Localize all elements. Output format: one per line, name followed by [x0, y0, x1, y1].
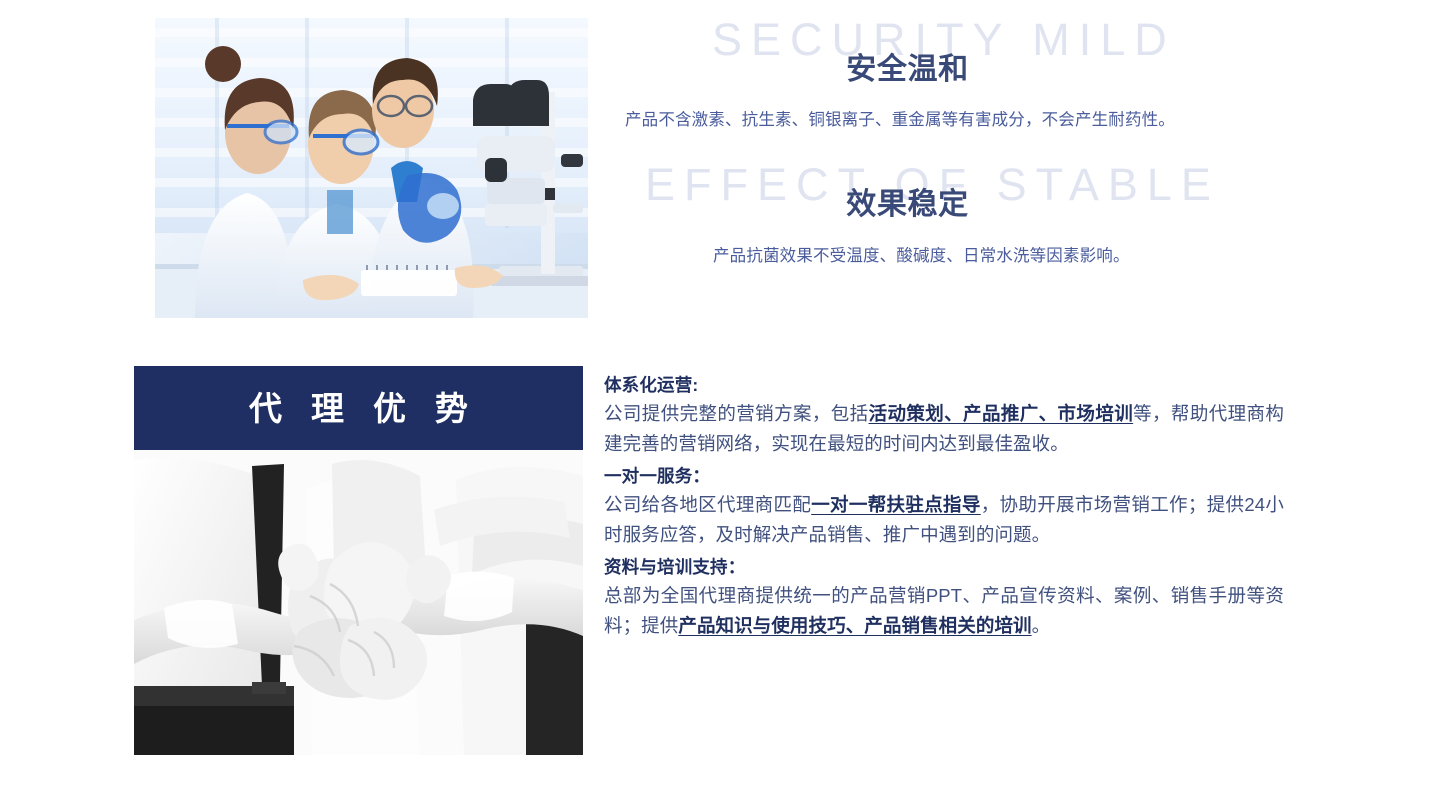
advantage-heading-materials-training: 资料与培训支持：: [604, 554, 1284, 581]
advantage-body-systematic-operation: 公司提供完整的营销方案，包括活动策划、产品推广、市场培训等，帮助代理商构建完善的…: [604, 399, 1284, 459]
advantage-body-one-to-one-service: 公司给各地区代理商匹配一对一帮扶驻点指导，协助开展市场营销工作；提供24小时服务…: [604, 490, 1284, 550]
advantage-text-plain: 公司提供完整的营销方案，包括: [604, 403, 869, 424]
advantage-text-emphasis: 活动策划、产品推广、市场培训: [869, 403, 1134, 424]
advantage-block-systematic-operation: 体系化运营: 公司提供完整的营销方案，包括活动策划、产品推广、市场培训等，帮助代…: [604, 372, 1284, 459]
agent-advantage-text-column: 体系化运营: 公司提供完整的营销方案，包括活动策划、产品推广、市场培训等，帮助代…: [604, 372, 1284, 645]
advantage-text-emphasis: 一对一帮扶驻点指导: [811, 494, 981, 515]
agent-advantage-banner: 代 理 优 势: [134, 366, 583, 450]
advantage-block-materials-training: 资料与培训支持： 总部为全国代理商提供统一的产品营销PPT、产品宣传资料、案例、…: [604, 554, 1284, 641]
feature-title-safety: 安全温和: [0, 55, 1440, 85]
advantage-text-emphasis: 产品知识与使用技巧、产品销售相关的培训: [678, 615, 1031, 636]
feature-title-stability: 效果稳定: [0, 190, 1440, 220]
advantage-heading-one-to-one-service: 一对一服务：: [604, 463, 1284, 490]
handshake-photo: [134, 450, 583, 755]
advantage-text-plain: 。: [1032, 615, 1051, 636]
agent-advantage-banner-title: 代 理 优 势: [239, 392, 478, 425]
handshake-photo-illustration: [134, 450, 583, 755]
feature-description-safety: 产品不含激素、抗生素、铜银离子、重金属等有害成分，不会产生耐药性。: [625, 112, 1175, 129]
advantage-text-plain: 公司给各地区代理商匹配: [604, 494, 811, 515]
product-detail-page: SECURITY MILD EFFECT OF STABLE 安全温和 产品不含…: [0, 0, 1440, 800]
advantage-body-materials-training: 总部为全国代理商提供统一的产品营销PPT、产品宣传资料、案例、销售手册等资料；提…: [604, 581, 1284, 641]
advantage-block-one-to-one-service: 一对一服务： 公司给各地区代理商匹配一对一帮扶驻点指导，协助开展市场营销工作；提…: [604, 463, 1284, 550]
feature-description-stability: 产品抗菌效果不受温度、酸碱度、日常水洗等因素影响。: [713, 248, 1130, 265]
advantage-heading-systematic-operation: 体系化运营:: [604, 372, 1284, 399]
